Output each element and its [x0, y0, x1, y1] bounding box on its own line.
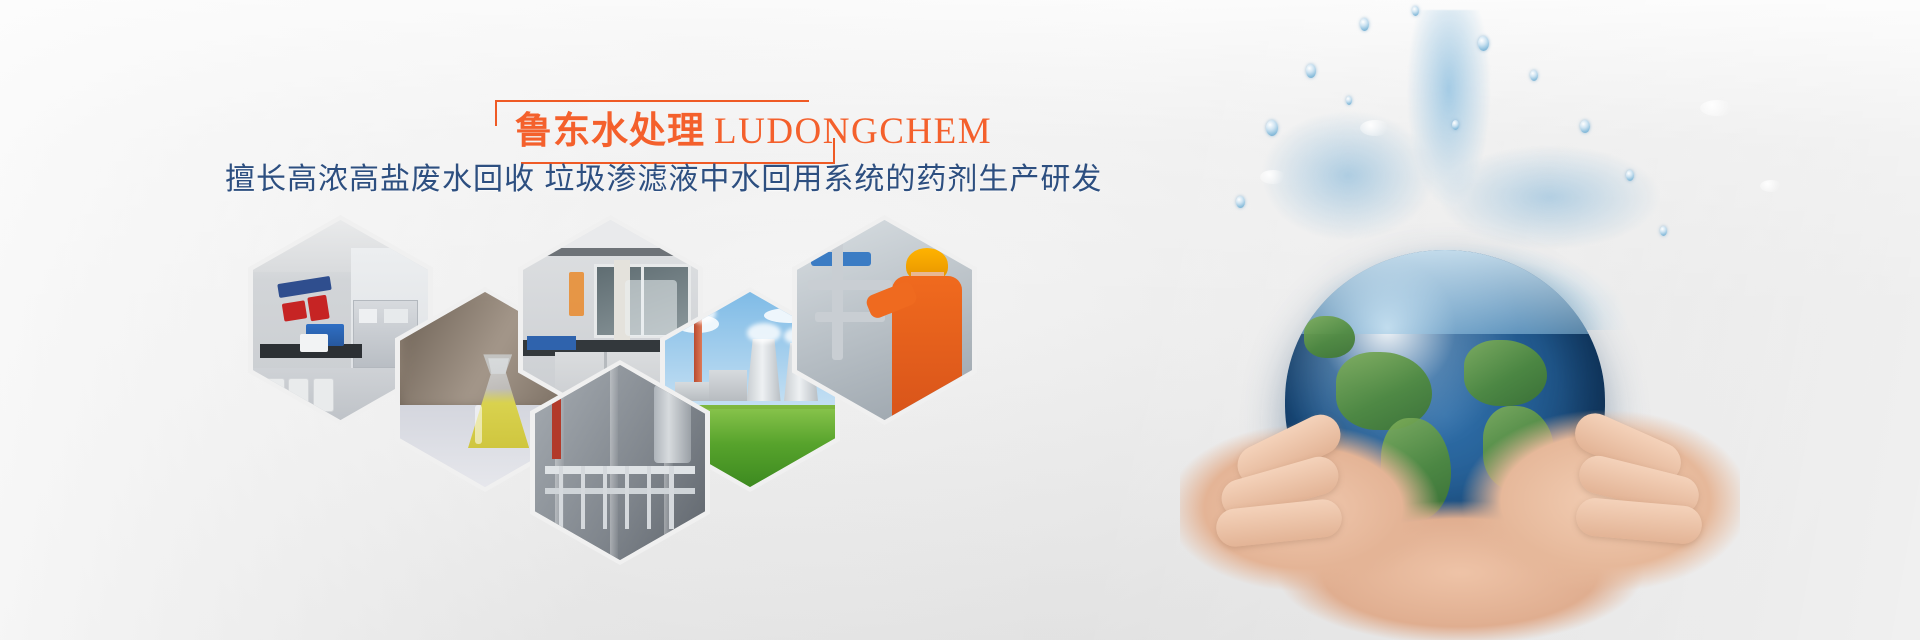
- hexagon-gallery: [230, 215, 970, 525]
- gallery-item-industrial-piping[interactable]: [530, 360, 710, 565]
- gallery-item-plant-worker[interactable]: [792, 215, 977, 425]
- brand-title-en: LUDONGCHEM: [714, 111, 992, 152]
- hex-photo-clip: [535, 365, 705, 560]
- hero-banner: 鲁东水处理LUDONGCHEM 擅长高浓高盐废水回收 垃圾渗滤液中水回用系统的药…: [0, 0, 1920, 640]
- water-globe-artwork: [1060, 0, 1920, 640]
- photo-plant-worker: [797, 220, 972, 420]
- headline-bracket-frame: 鲁东水处理LUDONGCHEM: [495, 100, 835, 164]
- cupped-hands: [1180, 400, 1740, 640]
- hex-photo-clip: [797, 220, 972, 420]
- photo-industrial-piping: [535, 365, 705, 560]
- banner-subtitle: 擅长高浓高盐废水回收 垃圾渗滤液中水回用系统的药剂生产研发: [225, 160, 1102, 200]
- brand-title-cn: 鲁东水处理: [515, 111, 705, 152]
- headline-block: 鲁东水处理LUDONGCHEM: [495, 100, 835, 164]
- brand-title: 鲁东水处理LUDONGCHEM: [511, 106, 819, 160]
